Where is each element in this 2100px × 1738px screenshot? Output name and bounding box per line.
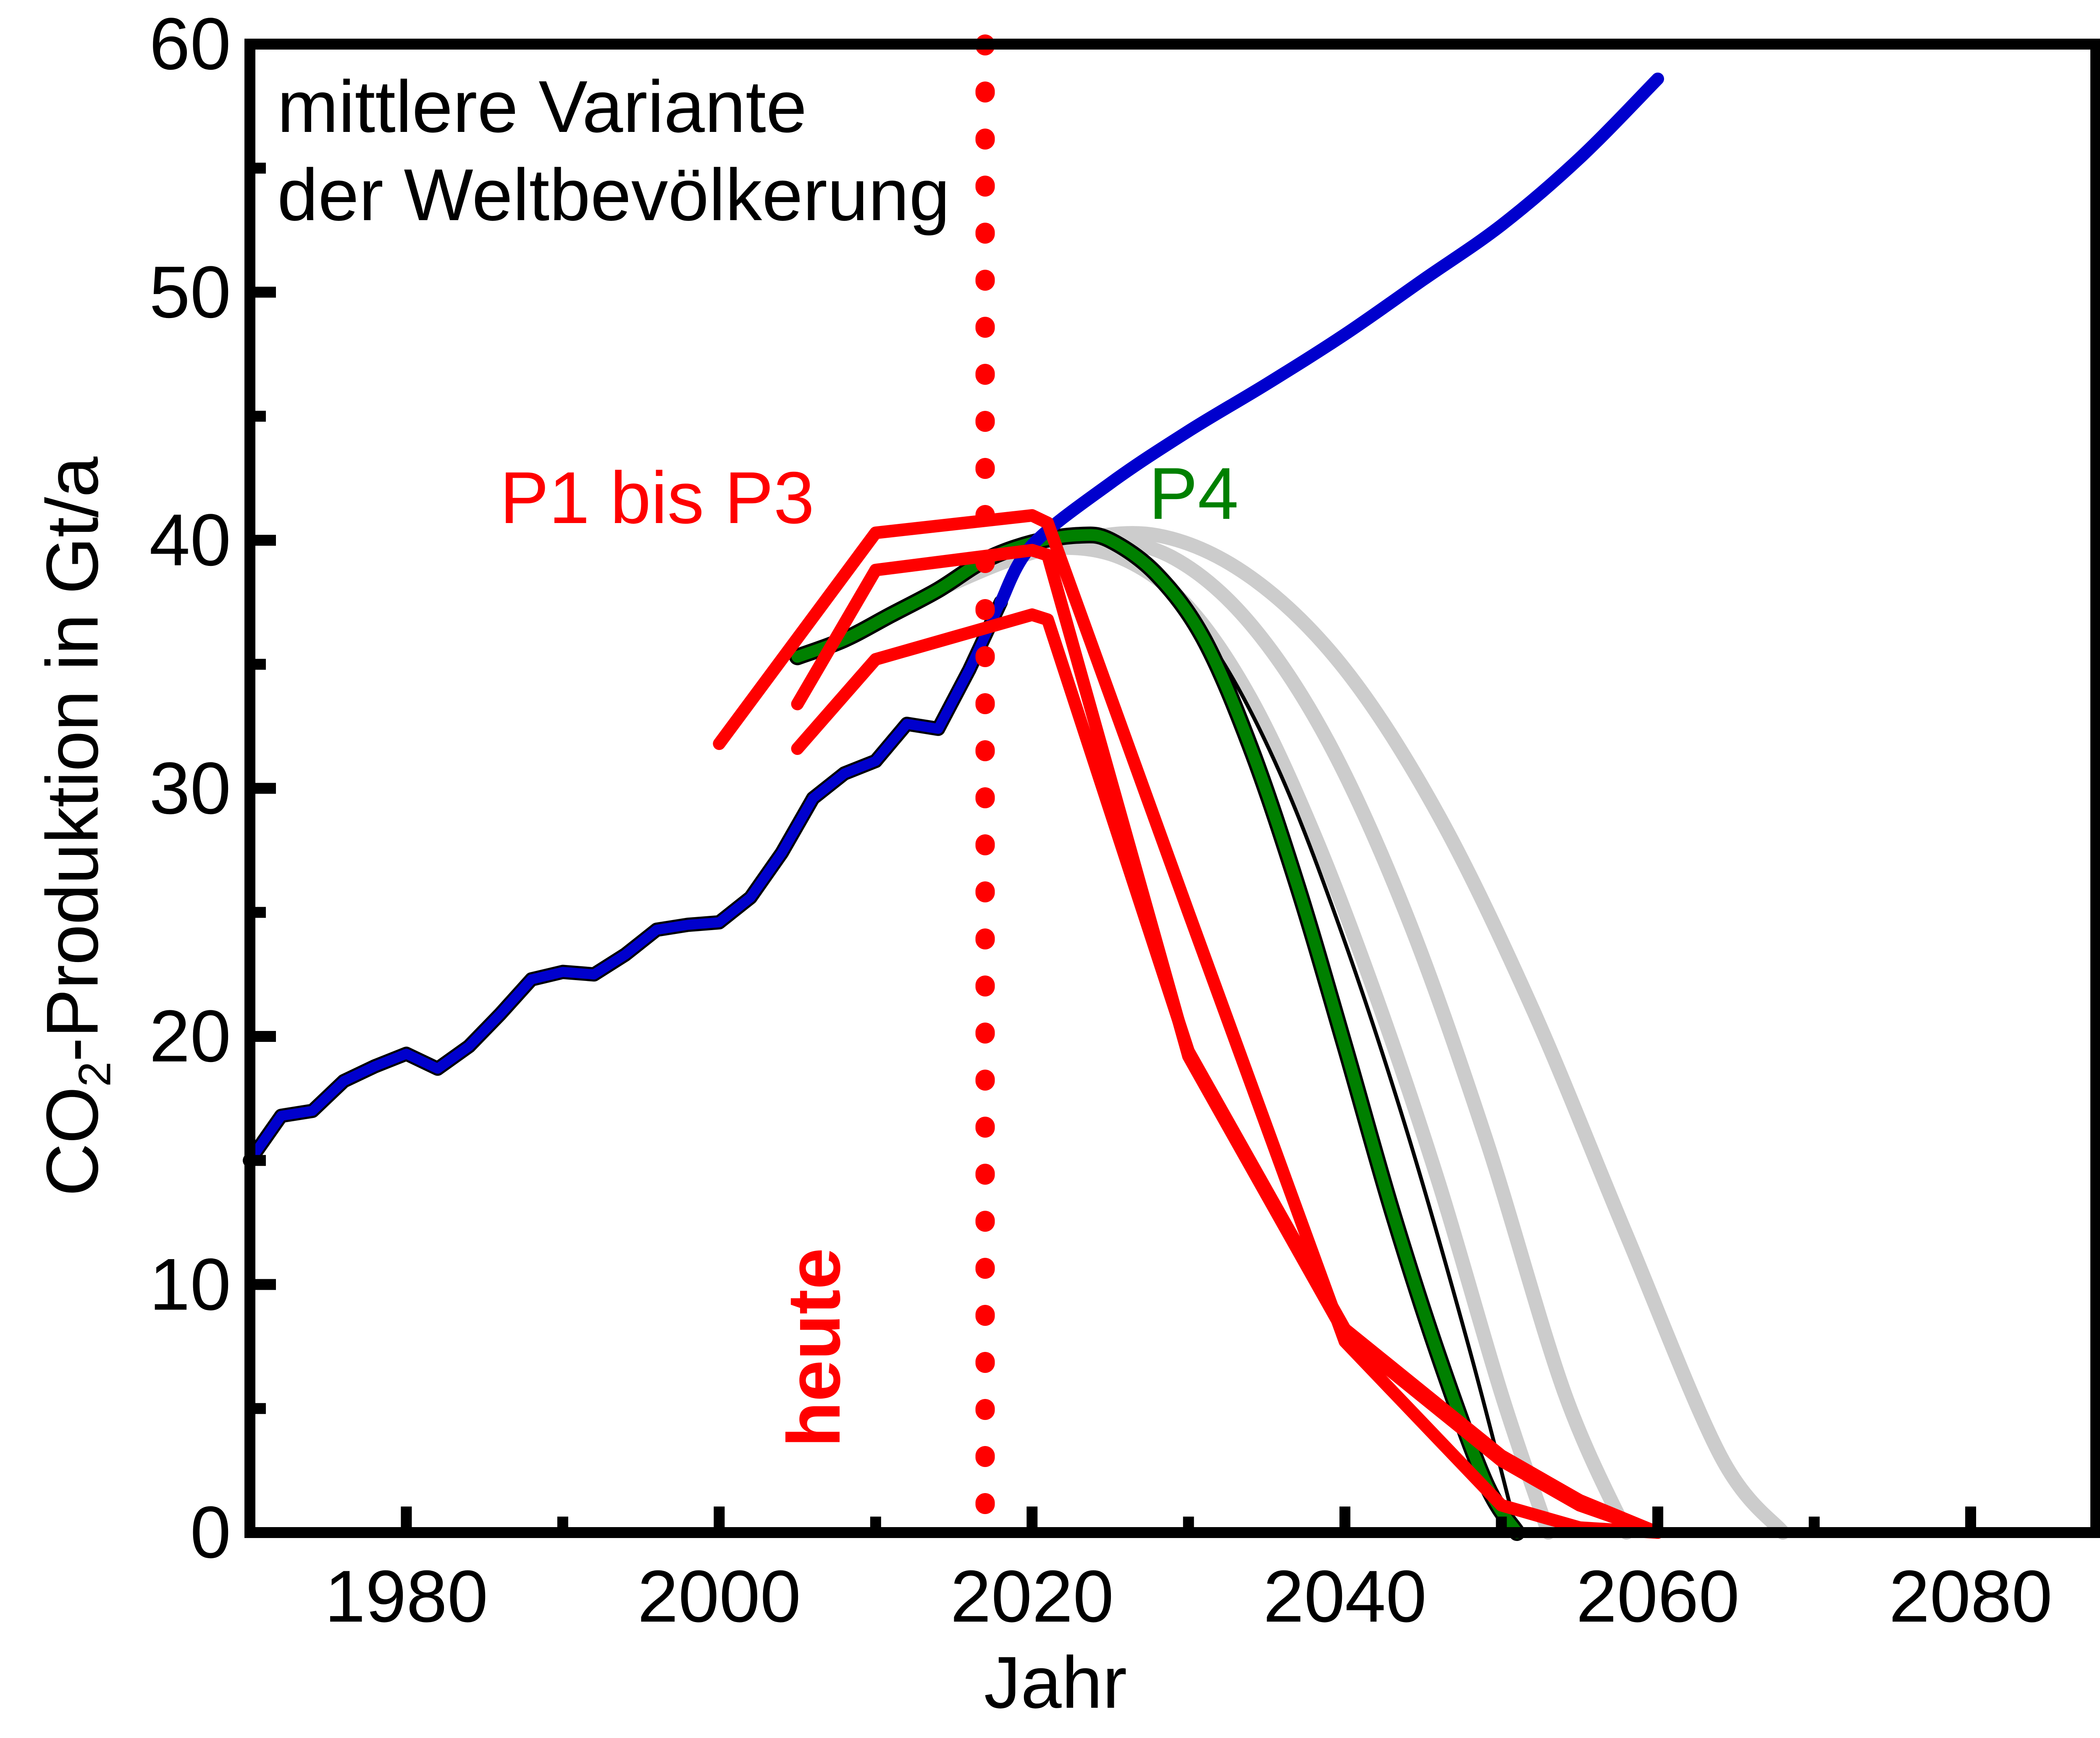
- axes-and-ticks: [250, 44, 2096, 1533]
- p1-p3-scenario-curves: [719, 515, 1658, 1533]
- historical-co2-curve: [250, 79, 1658, 1161]
- plot-area: [0, 0, 2100, 1738]
- chart-figure: CO2-Produktion in Gt/a Jahr 010203040506…: [0, 0, 2100, 1738]
